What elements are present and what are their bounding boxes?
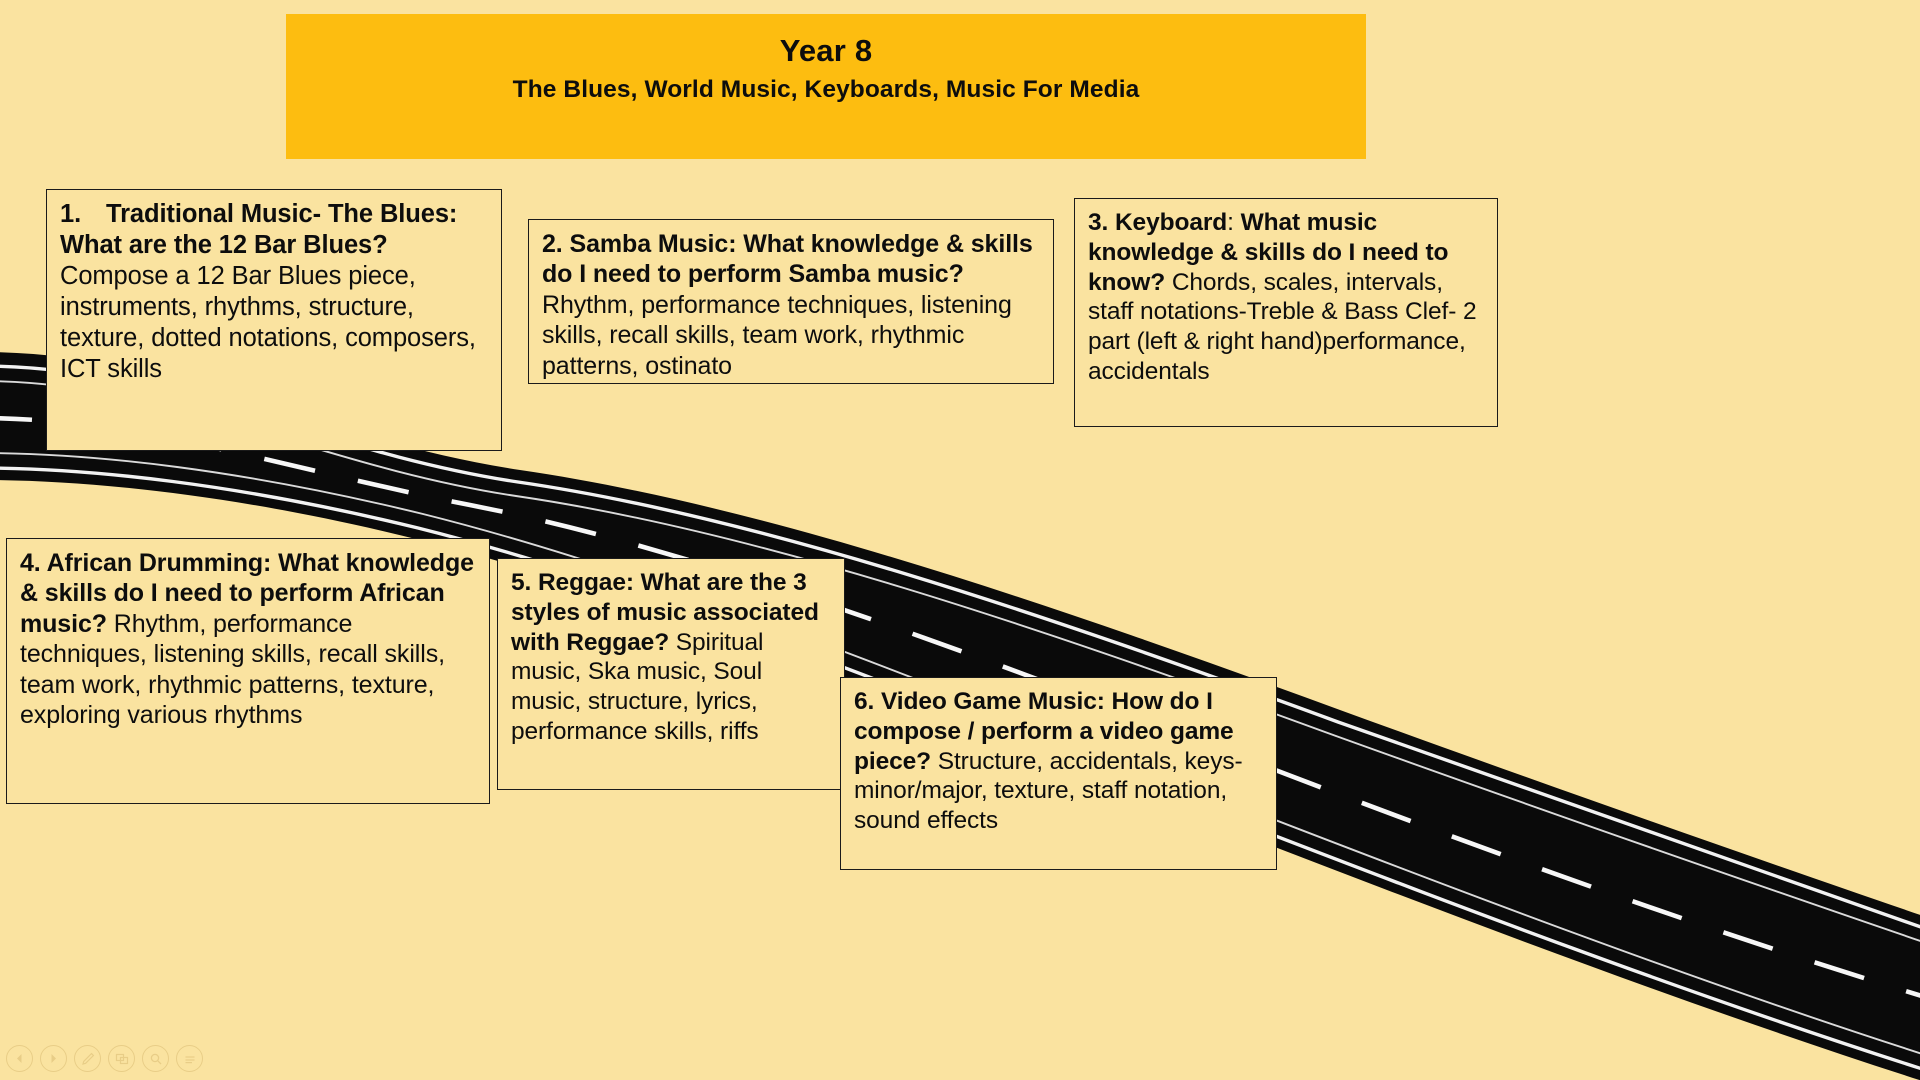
topic-number-1: 1. [60,199,106,230]
chevron-left-icon [13,1052,26,1065]
topic-number-3: 3. [1088,209,1108,236]
topic-heading-3a: Keyboard [1115,209,1227,236]
topic-box-1[interactable]: 1.Traditional Music- The Blues: What are… [46,189,502,451]
more-options-button[interactable] [176,1045,203,1072]
topic-body-2: Rhythm, performance techniques, listenin… [542,291,1012,380]
topic-number-5: 5. [511,569,531,596]
slide-canvas: Year 8 The Blues, World Music, Keyboards… [0,0,1920,1080]
topic-number-6: 6. [854,688,874,715]
topic-box-6[interactable]: 6. Video Game Music: How do I compose / … [840,677,1277,870]
previous-slide-button[interactable] [6,1045,33,1072]
topic-box-4[interactable]: 4. African Drumming: What knowledge & sk… [6,538,490,804]
topic-box-2[interactable]: 2. Samba Music: What knowledge & skills … [528,219,1054,384]
topic-text-3: 3. Keyboard: What music knowledge & skil… [1088,208,1485,387]
topic-box-3[interactable]: 3. Keyboard: What music knowledge & skil… [1074,198,1498,427]
topic-box-5[interactable]: 5. Reggae: What are the 3 styles of musi… [497,558,845,790]
all-slides-button[interactable] [108,1045,135,1072]
menu-icon [183,1052,197,1066]
chevron-right-icon [47,1052,60,1065]
topic-number-2: 2. [542,230,563,258]
topic-text-1: 1.Traditional Music- The Blues: What are… [60,199,489,385]
topic-text-2: 2. Samba Music: What knowledge & skills … [542,229,1041,381]
topic-body-1: Compose a 12 Bar Blues piece, instrument… [60,262,476,383]
page-title: Year 8 [286,32,1366,70]
page-subtitle: The Blues, World Music, Keyboards, Music… [286,74,1366,106]
next-slide-button[interactable] [40,1045,67,1072]
topic-text-4: 4. African Drumming: What knowledge & sk… [20,548,477,730]
topic-number-4: 4. [20,549,41,577]
topic-text-6: 6. Video Game Music: How do I compose / … [854,687,1264,836]
topic-heading-2: Samba Music: What knowledge & skills do … [542,230,1033,288]
topic-text-5: 5. Reggae: What are the 3 styles of musi… [511,568,832,747]
presentation-toolbar [6,1045,203,1072]
pen-icon [81,1052,95,1066]
topic-heading-separator-3: : [1227,209,1234,236]
zoom-button[interactable] [142,1045,169,1072]
magnifier-icon [149,1052,163,1066]
slide-title-banner: Year 8 The Blues, World Music, Keyboards… [286,14,1366,159]
grid-icon [115,1052,129,1066]
pen-tool-button[interactable] [74,1045,101,1072]
topic-heading-5: Reggae: What are the 3 styles of music a… [511,569,819,656]
topic-heading-1: Traditional Music- The Blues: What are t… [60,200,457,259]
